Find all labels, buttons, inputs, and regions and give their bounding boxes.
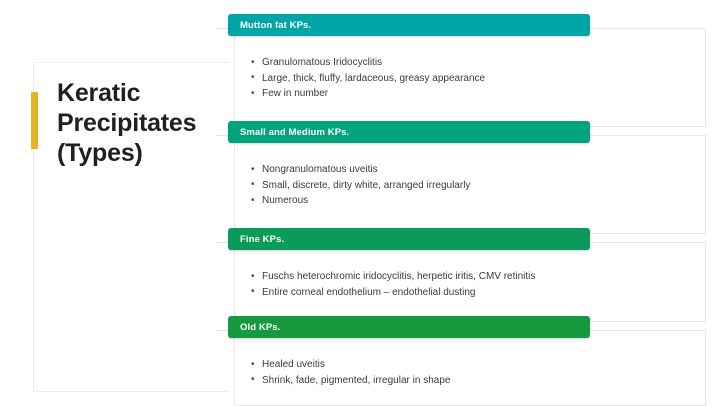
bullet-list: Fuschs heterochromic iridocyclitis, herp… [235,243,705,300]
card-header-label: Mutton fat KPs. [240,20,311,31]
title-accent-bar [31,92,38,149]
page-title-line-2: Precipitates [57,108,232,138]
card-header-fine-kps[interactable]: Fine KPs. [228,228,590,250]
slide-canvas: Keratic Precipitates (Types) Granulomato… [0,0,720,405]
card-body: Healed uveitis Shrink, fade, pigmented, … [234,330,706,406]
list-item: Few in number [247,86,705,102]
bullet-list: Healed uveitis Shrink, fade, pigmented, … [235,331,705,388]
card-header-label: Old KPs. [240,322,280,333]
card-header-label: Small and Medium KPs. [240,127,349,138]
card-body: Nongranulomatous uveitis Small, discrete… [234,135,706,234]
card-header-label: Fine KPs. [240,234,284,245]
list-item: Large, thick, fluffy, lardaceous, greasy… [247,71,705,87]
card-header-mutton-fat-kps[interactable]: Mutton fat KPs. [228,14,590,36]
list-item: Entire corneal endothelium – endothelial… [247,285,705,301]
list-item: Healed uveitis [247,357,705,373]
list-item: Shrink, fade, pigmented, irregular in sh… [247,373,705,389]
list-item: Small, discrete, dirty white, arranged i… [247,178,705,194]
bullet-list: Granulomatous Iridocyclitis Large, thick… [235,29,705,102]
list-item: Granulomatous Iridocyclitis [247,55,705,71]
card-header-old-kps[interactable]: Old KPs. [228,316,590,338]
card-column: Granulomatous Iridocyclitis Large, thick… [228,0,720,405]
card-header-small-and-medium-kps[interactable]: Small and Medium KPs. [228,121,590,143]
page-title-line-3: (Types) [57,138,232,168]
card-body: Granulomatous Iridocyclitis Large, thick… [234,28,706,127]
list-item: Numerous [247,193,705,209]
bullet-list: Nongranulomatous uveitis Small, discrete… [235,136,705,209]
page-title-line-1: Keratic [57,78,232,108]
list-item: Nongranulomatous uveitis [247,162,705,178]
page-title: Keratic Precipitates (Types) [57,78,232,168]
list-item: Fuschs heterochromic iridocyclitis, herp… [247,269,705,285]
card-body: Fuschs heterochromic iridocyclitis, herp… [234,242,706,322]
